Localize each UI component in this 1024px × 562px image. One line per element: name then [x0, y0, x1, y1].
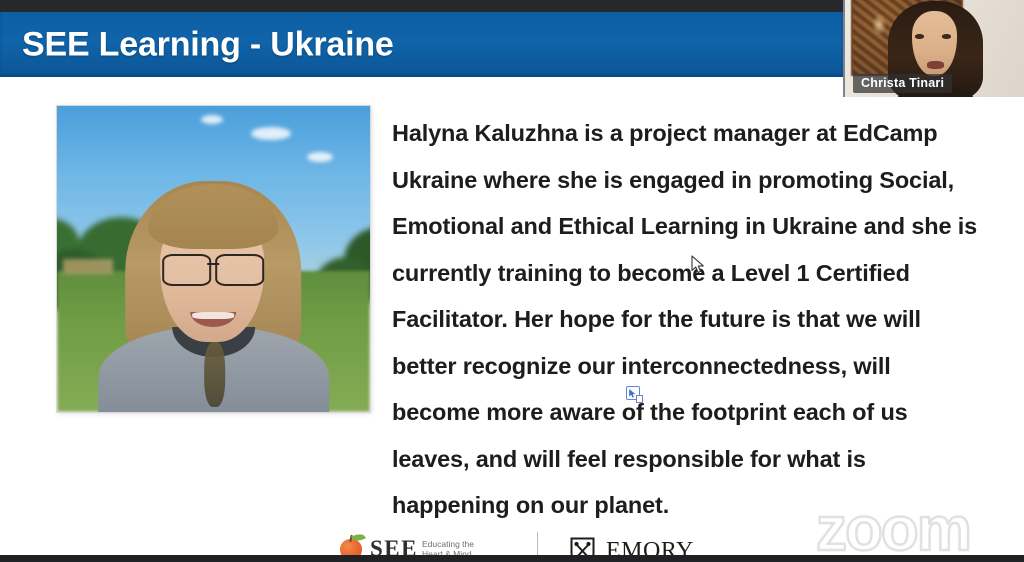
person-glasses — [163, 254, 265, 282]
photo-person — [98, 161, 330, 412]
letterbox-strip-bottom — [0, 555, 1024, 562]
participant-eye-right — [942, 34, 951, 38]
slide-body-text: Halyna Kaluzhna is a project manager at … — [392, 110, 982, 529]
zoom-shared-screen: SEE Learning - Ukraine — [0, 0, 1024, 562]
participant-eye-left — [915, 34, 924, 38]
cloud-shape — [251, 127, 291, 140]
mouse-cursor-arrow-icon — [691, 255, 705, 274]
participant-mouth — [927, 61, 944, 68]
slide-title: SEE Learning - Ukraine — [22, 25, 394, 64]
annotation-cursor-icon — [626, 386, 643, 403]
glasses-lens-right — [216, 254, 265, 286]
zoom-watermark: zoom — [816, 501, 1006, 559]
slide-title-banner: SEE Learning - Ukraine — [0, 12, 843, 77]
presenter-photo — [57, 106, 370, 412]
glasses-bridge — [207, 263, 219, 266]
glasses-lens-left — [163, 254, 212, 286]
participant-video-tile[interactable]: Christa Tinari — [843, 0, 1024, 97]
person-teeth — [193, 312, 235, 320]
cloud-shape — [201, 115, 223, 124]
participant-name-label: Christa Tinari — [853, 74, 952, 93]
person-necklace — [204, 342, 225, 407]
